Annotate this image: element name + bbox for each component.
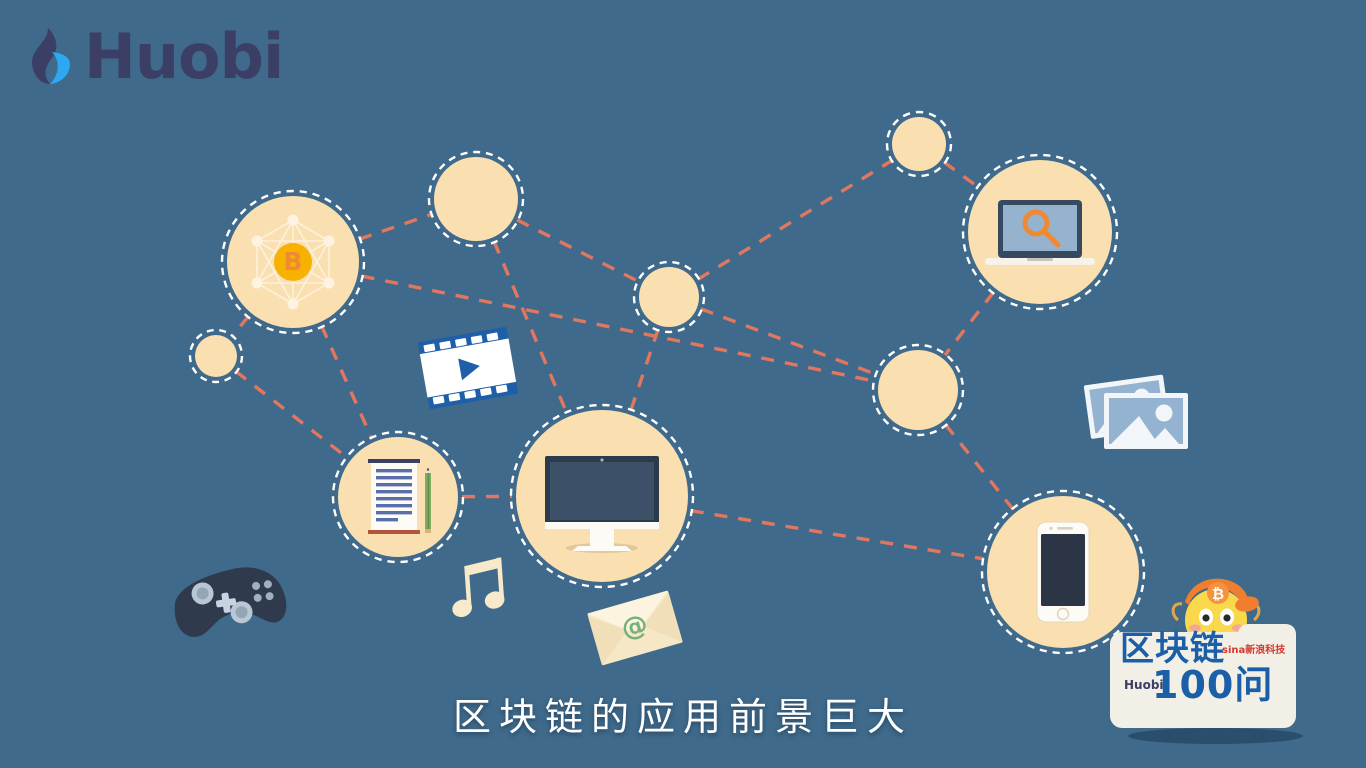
email-envelope-icon: @ <box>587 590 683 665</box>
badge-shadow <box>1128 728 1303 744</box>
gamepad-icon <box>170 562 289 639</box>
badge-number: 100问 <box>1152 666 1273 704</box>
svg-text:₿: ₿ <box>1212 585 1224 603</box>
badge-plate: 区块链 sina新浪科技 Huobi 100问 <box>1110 632 1296 728</box>
scene-canvas: B <box>0 0 1366 768</box>
badge-title: 区块链 <box>1120 632 1225 666</box>
music-note-icon <box>447 557 508 620</box>
huobi-wordmark: Huobi <box>84 26 283 88</box>
huobi-logo: Huobi <box>22 26 283 88</box>
photo-stack-icon <box>1084 374 1188 449</box>
badge-partner: sina新浪科技 <box>1222 641 1285 656</box>
huobi-flame-icon <box>22 26 78 88</box>
film-play-icon <box>418 327 518 410</box>
blockchain-100-badge: ₿ 区块链 sina新浪科技 Huobi 100问 <box>1110 581 1320 746</box>
